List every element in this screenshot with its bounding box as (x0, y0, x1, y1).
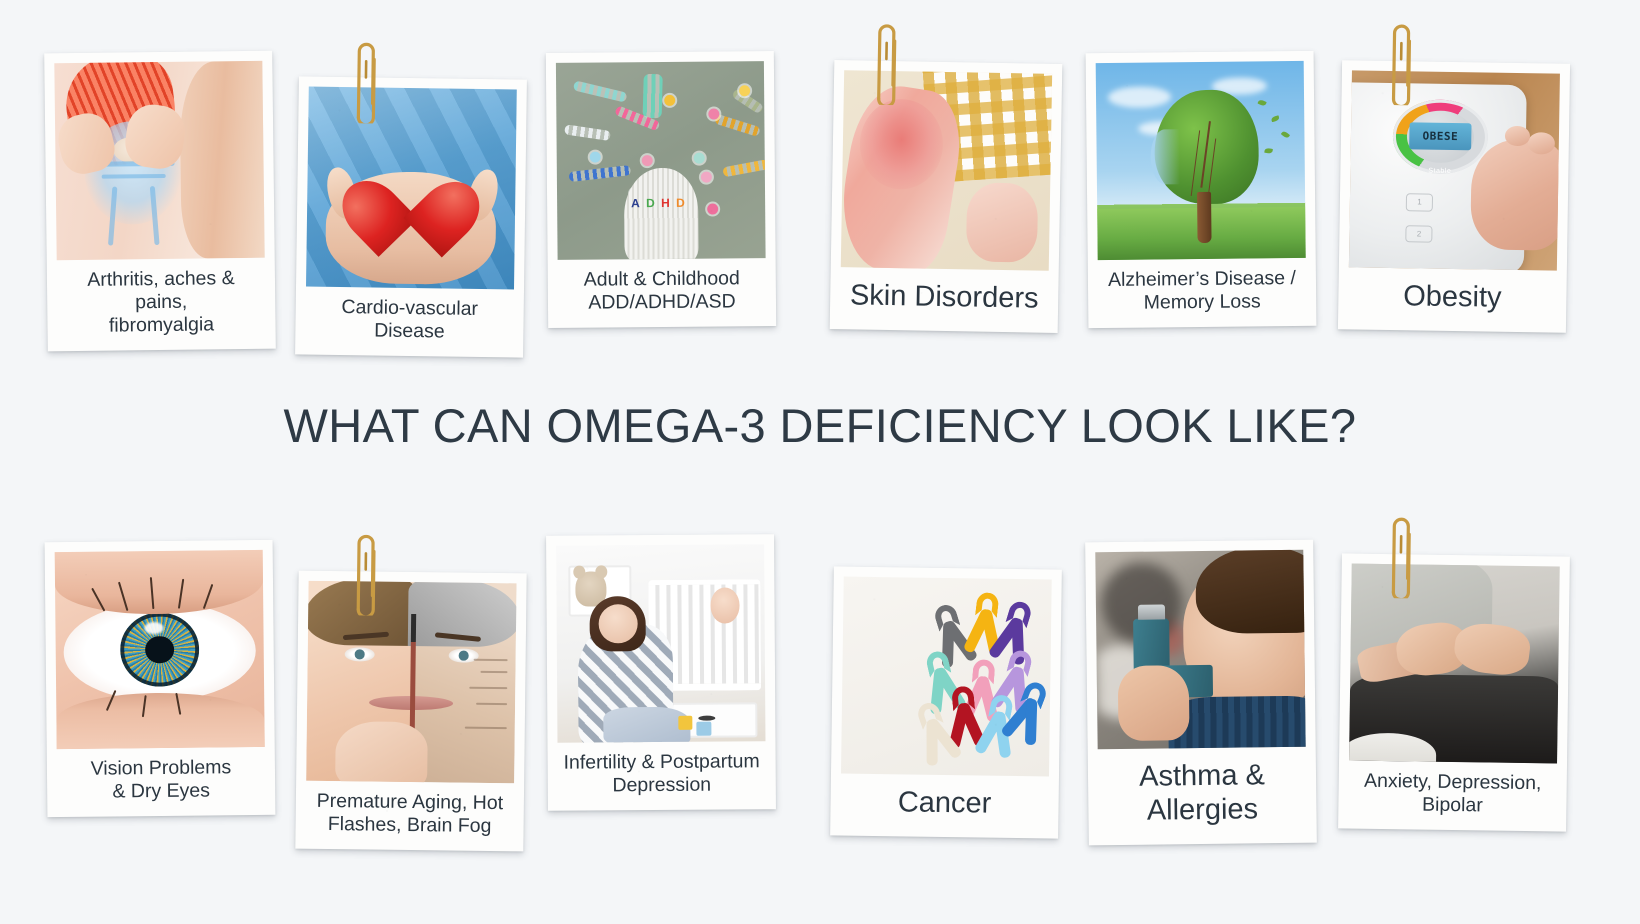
infographic-board: Arthritis, aches & pains, fibromyalgia C… (0, 0, 1640, 924)
card-vision[interactable]: Vision Problems & Dry Eyes (45, 540, 276, 817)
photo-arthritis (54, 61, 264, 261)
caption-skin: Skin Disorders (840, 267, 1049, 333)
photo-skin (841, 70, 1052, 271)
caption-arthritis: Arthritis, aches & pains, fibromyalgia (57, 258, 266, 352)
card-infertility[interactable]: Infertility & Postpartum Depression (546, 534, 776, 811)
photo-alzheimers (1096, 61, 1306, 260)
card-aging[interactable]: Premature Aging, Hot Flashes, Brain Fog (295, 571, 526, 852)
photo-anxiety (1349, 564, 1560, 764)
caption-alzheimers: Alzheimer’s Disease / Memory Loss (1098, 258, 1307, 328)
page-title: WHAT CAN OMEGA-3 DEFICIENCY LOOK LIKE? (0, 398, 1640, 453)
card-cardiovascular[interactable]: Cardio-vascular Disease (295, 76, 527, 357)
scale-lcd-readout: OBESE (1410, 122, 1472, 150)
caption-cancer: Cancer (840, 774, 1049, 839)
card-asthma[interactable]: Asthma & Allergies (1085, 540, 1317, 846)
card-alzheimers[interactable]: Alzheimer’s Disease / Memory Loss (1086, 51, 1317, 328)
card-skin[interactable]: Skin Disorders (830, 60, 1063, 333)
scale-button-2: 2 (1405, 225, 1432, 243)
caption-infertility: Infertility & Postpartum Depression (557, 741, 765, 810)
caption-asthma: Asthma & Allergies (1098, 747, 1307, 846)
photo-cardiovascular (306, 87, 517, 290)
card-arthritis[interactable]: Arthritis, aches & pains, fibromyalgia (44, 51, 276, 352)
paper-head-cutout: A D H D (623, 168, 699, 260)
photo-vision (55, 550, 265, 749)
card-obesity[interactable]: OBESE Stable 1 2 Obesity (1338, 60, 1570, 333)
photo-infertility (556, 544, 765, 742)
card-cancer[interactable]: Cancer (830, 566, 1062, 838)
photo-aging (306, 581, 516, 784)
caption-adhd: Adult & Childhood ADD/ADHD/ASD (558, 258, 767, 328)
photo-obesity: OBESE Stable 1 2 (1349, 70, 1560, 270)
scale-button-1: 1 (1406, 193, 1433, 211)
photo-cancer (841, 577, 1052, 777)
caption-aging: Premature Aging, Hot Flashes, Brain Fog (305, 781, 514, 852)
caption-cardiovascular: Cardio-vascular Disease (305, 287, 514, 358)
card-adhd[interactable]: A D H D Adult & Childhood ADD/ADHD/ASD (546, 51, 776, 328)
photo-asthma (1095, 550, 1305, 750)
caption-obesity: Obesity (1348, 267, 1557, 332)
photo-adhd: A D H D (556, 61, 766, 260)
caption-anxiety: Anxiety, Depression, Bipolar (1348, 761, 1557, 832)
scale-stable-label: Stable (1428, 168, 1451, 175)
caption-vision: Vision Problems & Dry Eyes (57, 747, 266, 817)
card-anxiety[interactable]: Anxiety, Depression, Bipolar (1338, 553, 1570, 831)
